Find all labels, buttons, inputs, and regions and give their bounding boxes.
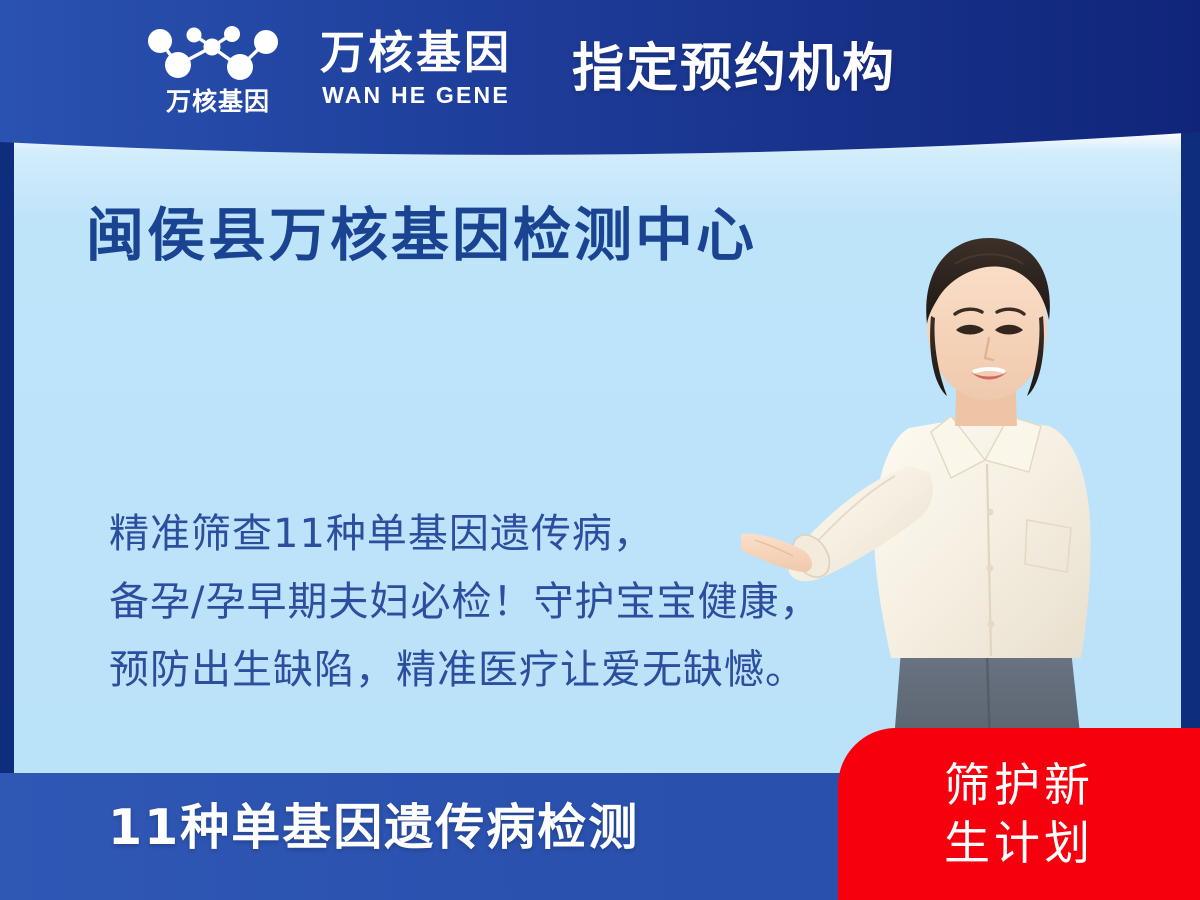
brand-wordmark: 万核基因 WAN HE GENE: [320, 29, 512, 108]
brand-name-cn: 万核基因: [320, 29, 512, 76]
logo-block: 万核基因: [142, 25, 294, 114]
molecule-network-icon: [144, 25, 292, 85]
header-bar: 万核基因 万核基因 WAN HE GENE 指定预约机构: [0, 0, 1200, 175]
brand-name-en: WAN HE GENE: [322, 82, 510, 109]
footer-banner-text: 11种单基因遗传病检测: [108, 803, 639, 852]
logo-mark-label: 万核基因: [166, 89, 270, 114]
status-badge: 筛护新 生计划: [838, 728, 1200, 900]
poster-canvas: 闽侯县万核基因检测中心 精准筛查11种单基因遗传病， 备孕/孕早期夫妇必检！守护…: [0, 0, 1200, 900]
body-line-1: 精准筛查11种单基因遗传病，: [109, 500, 820, 568]
badge-line-2: 生计划: [944, 814, 1094, 872]
content-panel: 闽侯县万核基因检测中心 精准筛查11种单基因遗传病， 备孕/孕早期夫妇必检！守护…: [14, 130, 1181, 775]
body-line-3: 预防出生缺陷，精准医疗让爱无缺憾。: [109, 636, 820, 704]
body-line-2: 备孕/孕早期夫妇必检！守护宝宝健康，: [109, 568, 820, 636]
body-copy: 精准筛查11种单基因遗传病， 备孕/孕早期夫妇必检！守护宝宝健康， 预防出生缺陷…: [109, 500, 820, 704]
page-title: 闽侯县万核基因检测中心: [86, 206, 757, 264]
header-tagline: 指定预约机构: [572, 43, 896, 95]
badge-line-1: 筛护新: [944, 756, 1094, 814]
